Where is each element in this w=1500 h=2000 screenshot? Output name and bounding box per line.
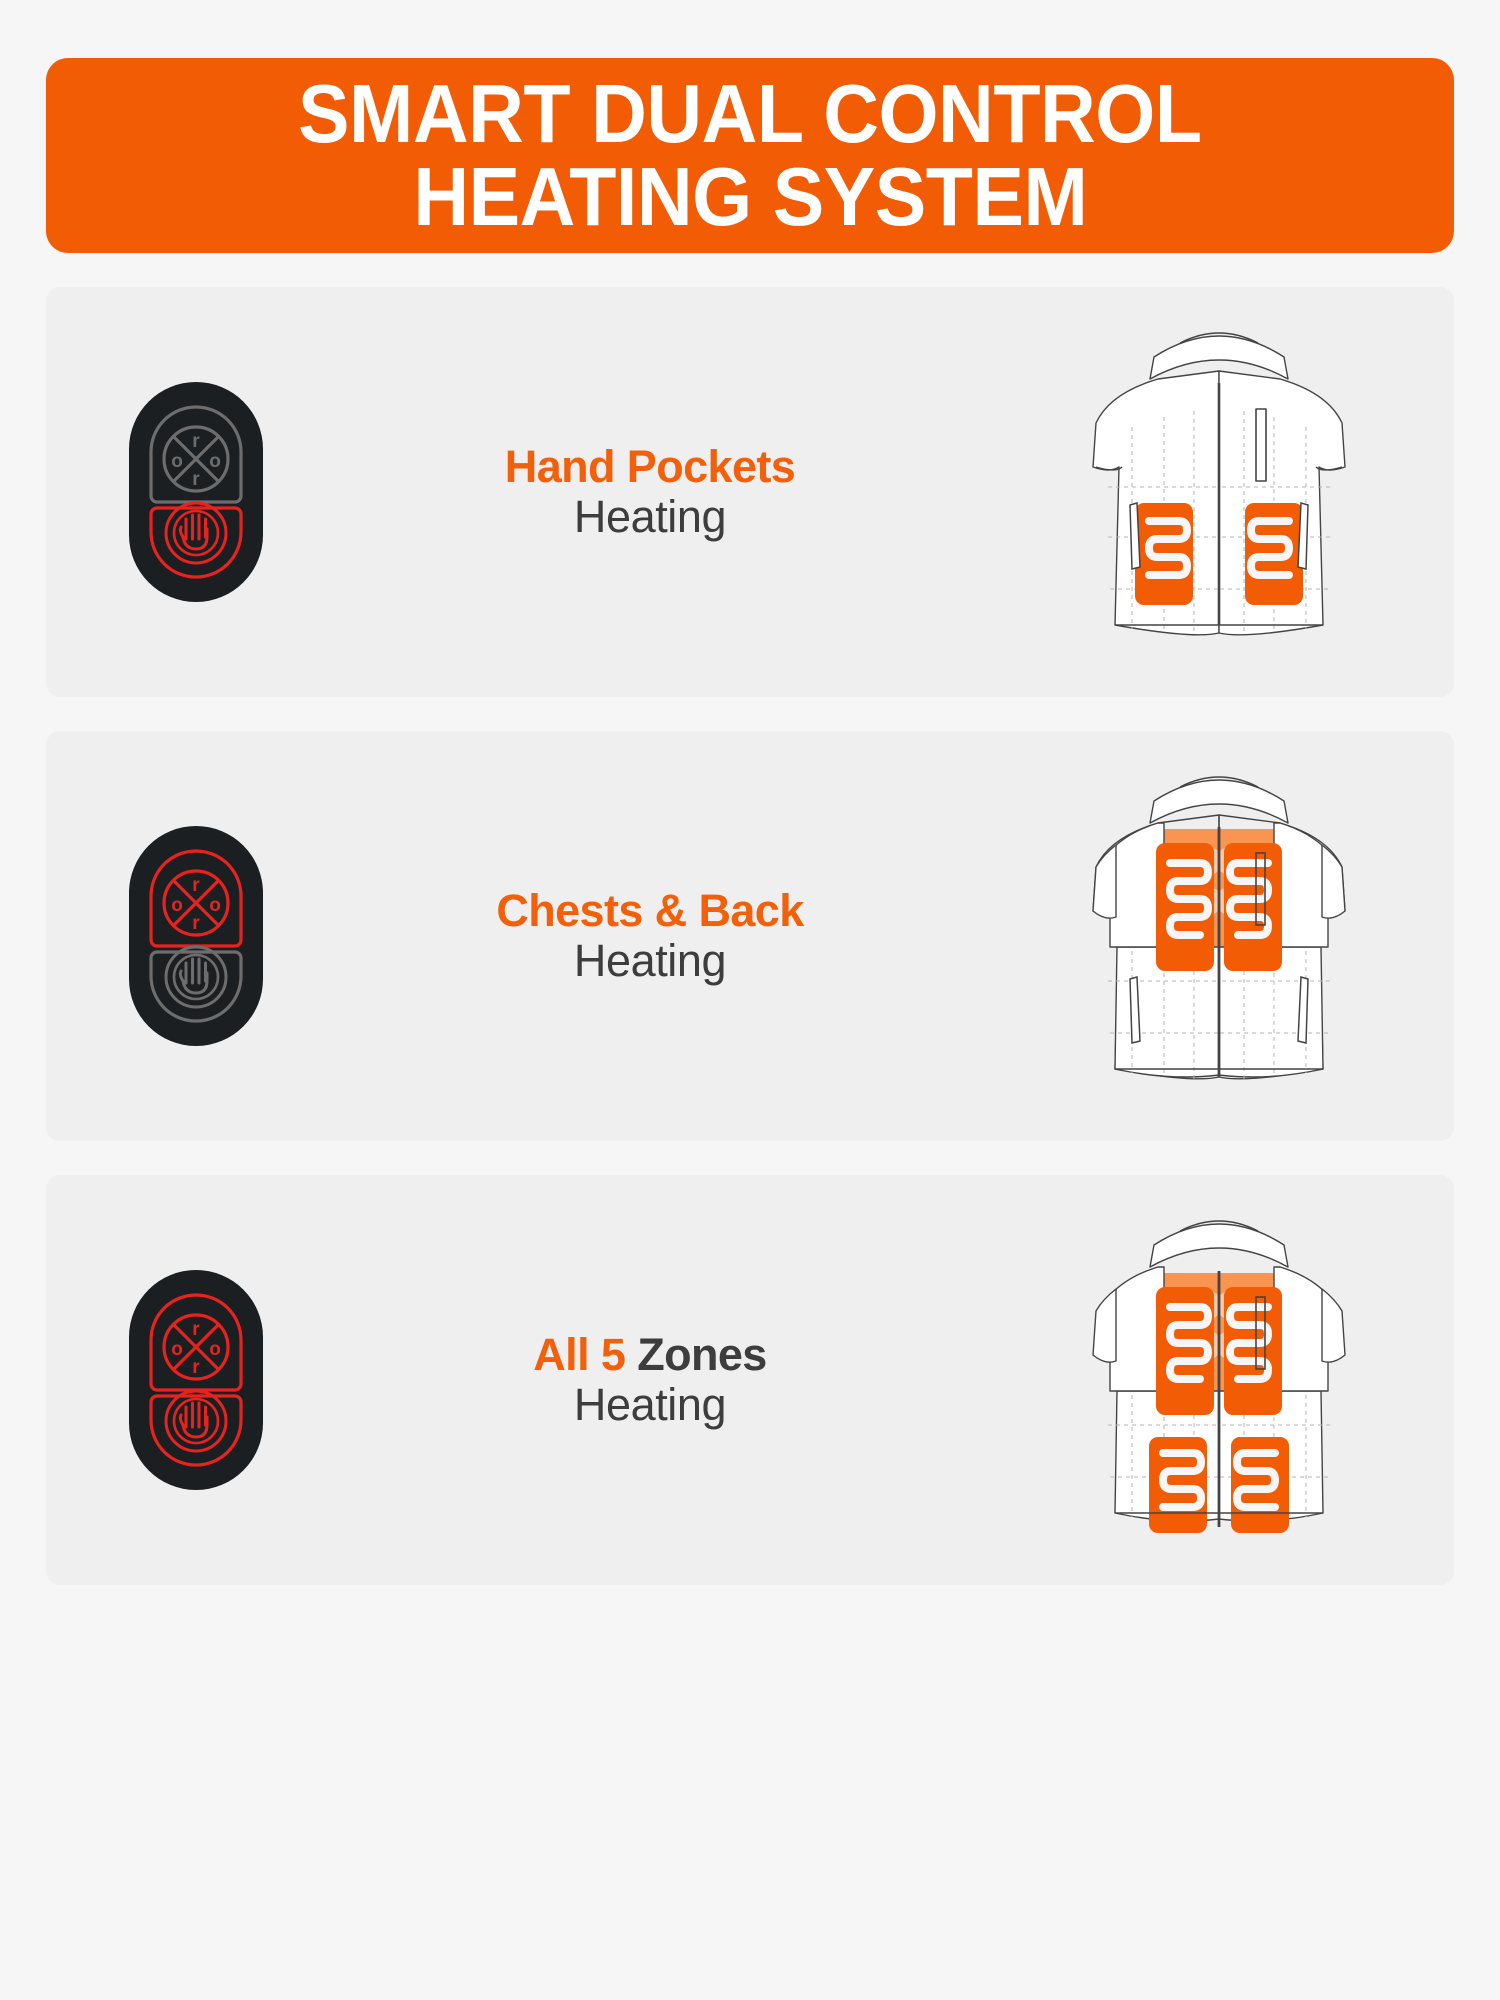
svg-text:r: r [192, 1319, 200, 1340]
heat-zone-right-hand-pocket-3 [1231, 1437, 1289, 1533]
svg-text:o: o [209, 451, 221, 472]
heat-zone-left-hand-pocket [1135, 503, 1193, 605]
controller-illustration-2: r o o r [46, 821, 346, 1051]
label-primary-3: All 5 Zones [533, 1331, 766, 1380]
svg-text:r: r [192, 875, 200, 896]
heat-zone-right-hand-pocket [1245, 503, 1303, 605]
controller-illustration-3: r o o r [46, 1265, 346, 1495]
feature-card-hand-pockets: r o o r [46, 287, 1454, 697]
remote-control-3[interactable]: r o o r [121, 1265, 271, 1495]
label-secondary-1: Heating [574, 492, 726, 542]
svg-text:r: r [192, 913, 200, 934]
svg-text:r: r [192, 1357, 200, 1378]
label-block-2: Chests & Back Heating [346, 887, 984, 985]
remote-control-1[interactable]: r o o r [121, 377, 271, 607]
header-title-line-1: SMART DUAL CONTROL [298, 73, 1202, 155]
svg-text:o: o [171, 1339, 183, 1360]
feature-card-chests-back: r o o r [46, 731, 1454, 1141]
heat-zone-left-chest [1156, 843, 1214, 971]
heat-zone-right-chest-3 [1224, 1287, 1282, 1415]
vest-diagram-2 [1004, 751, 1434, 1121]
label-block-1: Hand Pockets Heating [346, 443, 984, 541]
svg-text:o: o [171, 895, 183, 916]
vest-diagram-1 [1004, 307, 1434, 677]
header-banner: SMART DUAL CONTROL HEATING SYSTEM [46, 58, 1454, 253]
heat-zone-left-chest-3 [1156, 1287, 1214, 1415]
remote-control-2[interactable]: r o o r [121, 821, 271, 1051]
svg-text:o: o [209, 1339, 221, 1360]
vest-illustration-3 [984, 1195, 1454, 1565]
vest-illustration-1 [984, 307, 1454, 677]
svg-text:o: o [209, 895, 221, 916]
feature-card-all-5-zones: r o o r [46, 1175, 1454, 1585]
infographic-page: SMART DUAL CONTROL HEATING SYSTEM r o o … [0, 58, 1500, 2000]
svg-text:r: r [192, 431, 200, 452]
heat-zone-left-hand-pocket-3 [1149, 1437, 1207, 1533]
svg-text:o: o [171, 451, 183, 472]
label-primary-2: Chests & Back [496, 887, 803, 936]
label-secondary-3: Heating [574, 1380, 726, 1430]
vest-diagram-3 [1004, 1195, 1434, 1565]
vest-illustration-2 [984, 751, 1454, 1121]
label-primary-1: Hand Pockets [505, 443, 795, 492]
label-block-3: All 5 Zones Heating [346, 1331, 984, 1429]
header-title-line-2: HEATING SYSTEM [413, 156, 1087, 238]
label-secondary-2: Heating [574, 936, 726, 986]
controller-illustration-1: r o o r [46, 377, 346, 607]
heat-zone-right-chest [1224, 843, 1282, 971]
svg-text:r: r [192, 469, 200, 490]
